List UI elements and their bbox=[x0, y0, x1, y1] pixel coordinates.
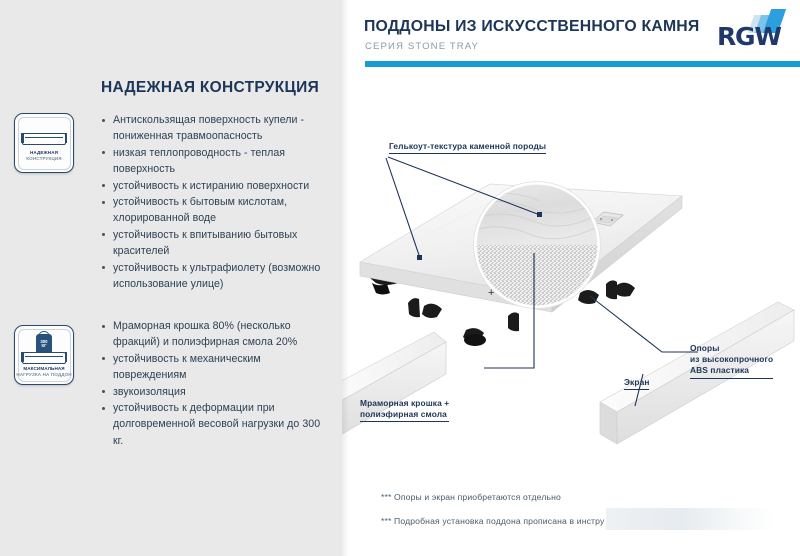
footnote-2: *** Подробная установка поддона прописан… bbox=[381, 516, 604, 526]
list-item: устойчивость к бытовым кислотам, хлориро… bbox=[101, 194, 329, 227]
tray-cap-right-icon bbox=[65, 352, 68, 362]
weight-300kg-icon: 300 КГ bbox=[36, 334, 52, 354]
callout-marble-label: Мраморная крошка + полиэфирная смола bbox=[360, 398, 449, 422]
list-item: звукоизоляция bbox=[101, 384, 329, 400]
list-item: низкая теплопроводность - теплая поверхн… bbox=[101, 145, 329, 178]
list-item: Антискользящая поверхность купели - пони… bbox=[101, 112, 329, 145]
product-infographic-page: НАДЕЖНАЯ КОНСТРУКЦИЯ НАДЕЖНАЯ КОНСТРУКЦИ… bbox=[0, 0, 800, 556]
left-panel-heading: НАДЕЖНАЯ КОНСТРУКЦИЯ bbox=[101, 79, 319, 97]
list-item: устойчивость к впитыванию бытовых красит… bbox=[101, 227, 329, 260]
right-diagram-panel: ПОДДОНЫ ИЗ ИСКУССТВЕННОГО КАМНЯ СЕРИЯ ST… bbox=[342, 0, 800, 556]
callout-supports-label: Опоры из высокопрочного ABS пластика bbox=[690, 343, 773, 379]
list-item: устойчивость к истиранию поверхности bbox=[101, 178, 329, 194]
left-features-panel: НАДЕЖНАЯ КОНСТРУКЦИЯ НАДЕЖНАЯ КОНСТРУКЦИ… bbox=[0, 0, 342, 556]
features-list-group-2: Мраморная крошка 80% (несколько фракций)… bbox=[101, 318, 329, 449]
list-item: устойчивость к ультрафиолету (возможно и… bbox=[101, 260, 329, 293]
max-load-badge: 300 КГ МАКСИМАЛЬНАЯ НАГРУЗКА НА ПОДДОН bbox=[14, 325, 74, 385]
features-list-group-1: Антискользящая поверхность купели - пони… bbox=[101, 112, 329, 292]
tray-cap-right-icon bbox=[65, 133, 68, 143]
magnifier-plus-marker: + bbox=[488, 287, 494, 299]
tray-cap-left-icon bbox=[21, 352, 24, 362]
list-item: Мраморная крошка 80% (несколько фракций)… bbox=[101, 318, 329, 351]
footnote-fade-overlay bbox=[606, 508, 776, 530]
shower-tray-diagram: + bbox=[342, 0, 800, 556]
shower-tray-icon bbox=[22, 133, 66, 145]
callout-gelcoat-label: Гелькоут-текстура каменной породы bbox=[389, 141, 546, 154]
badge1-caption-line2: КОНСТРУКЦИЯ bbox=[15, 157, 73, 162]
weight-unit: КГ bbox=[41, 343, 46, 348]
callout-screen-label: Экран bbox=[624, 377, 649, 390]
list-item: устойчивость к деформации при долговреме… bbox=[101, 400, 329, 449]
screen-panel-left bbox=[342, 332, 446, 440]
tray-cap-left-icon bbox=[21, 133, 24, 143]
footnote-1: *** Опоры и экран приобретаются отдельно bbox=[381, 492, 561, 502]
badge2-caption-line2: НАГРУЗКА НА ПОДДОН bbox=[15, 373, 73, 378]
reliable-construction-badge: НАДЕЖНАЯ КОНСТРУКЦИЯ bbox=[14, 113, 74, 173]
shower-tray-icon bbox=[22, 352, 66, 364]
panel-edge-shadow bbox=[342, 0, 349, 556]
list-item: устойчивость к механическим повреждениям bbox=[101, 351, 329, 384]
